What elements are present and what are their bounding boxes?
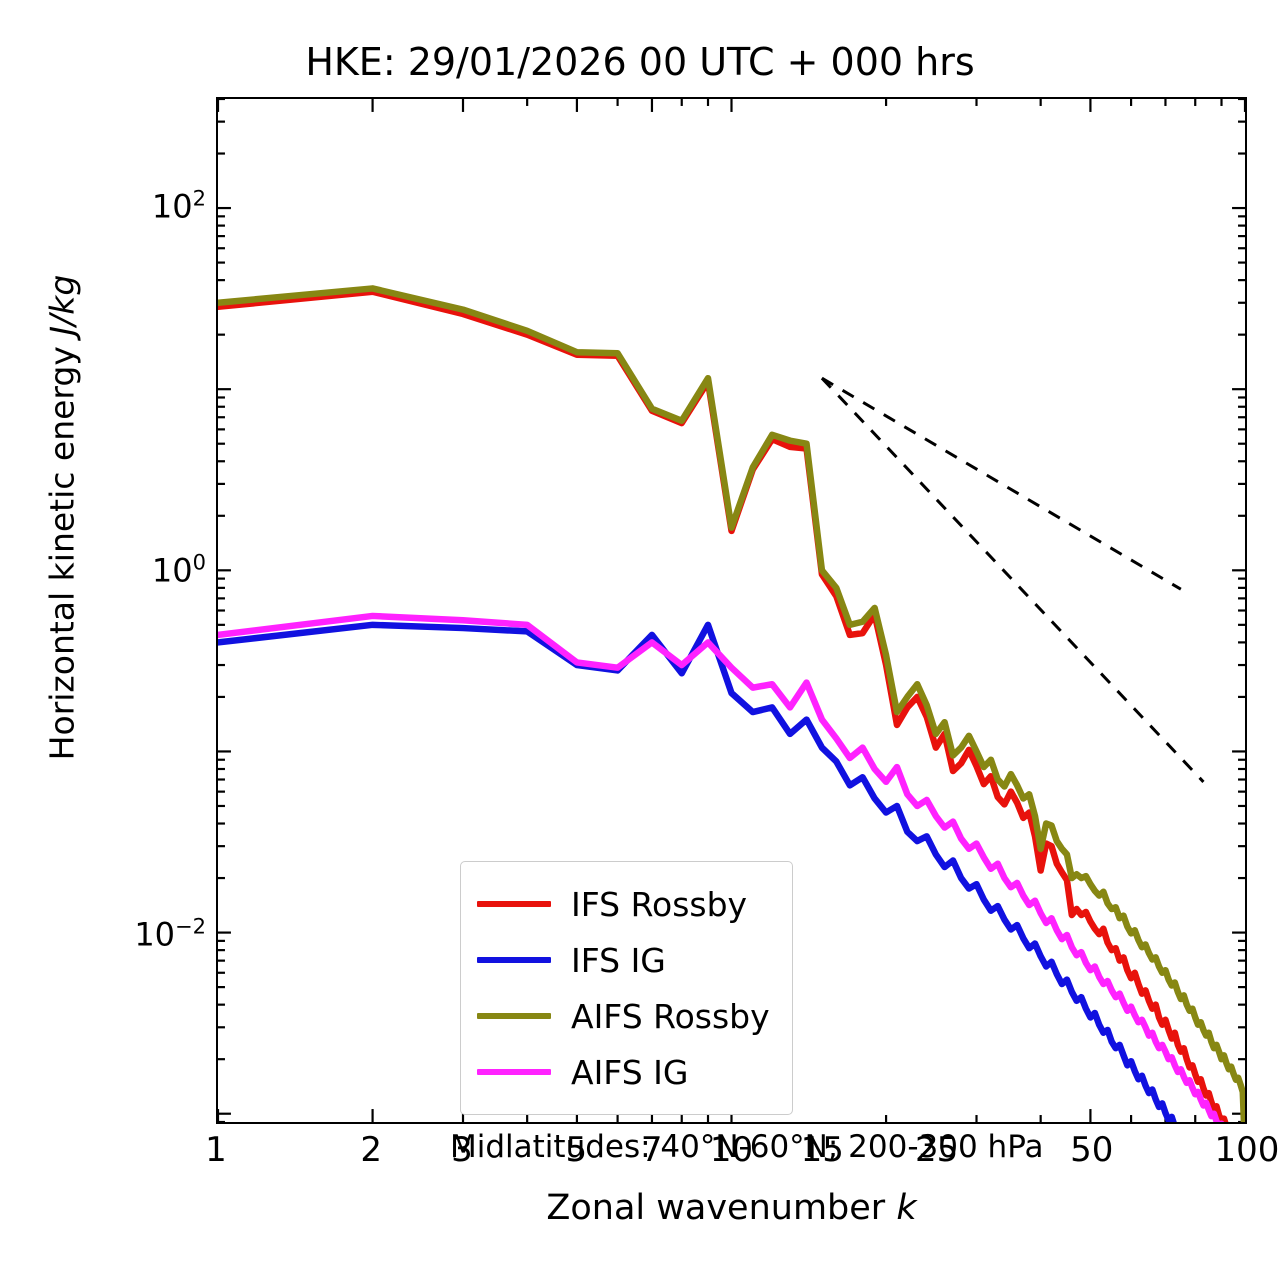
legend-label: AIFS IG bbox=[571, 1053, 688, 1092]
chart-title: HKE: 29/01/2026 00 UTC + 000 hrs bbox=[0, 40, 1280, 84]
y-axis-label-text: Horizontal kinetic energy bbox=[43, 336, 82, 761]
x-tick-label-1: 1 bbox=[205, 1130, 227, 1170]
x-tick-label-50: 50 bbox=[1070, 1130, 1113, 1170]
legend-item-ifs-rossby[interactable]: IFS Rossby bbox=[477, 876, 770, 932]
plot-area: IFS RossbyIFS IGAIFS RossbyAIFS IG Midla… bbox=[216, 97, 1247, 1124]
legend-label: IFS Rossby bbox=[571, 885, 747, 924]
legend-swatch-ifs-rossby bbox=[477, 901, 551, 907]
x-tick-label-2: 2 bbox=[360, 1130, 382, 1170]
legend[interactable]: IFS RossbyIFS IGAIFS RossbyAIFS IG bbox=[460, 861, 793, 1115]
region-annotation: Midlatitudes: 40°N-60°N; 200-300 hPa bbox=[450, 1129, 1044, 1165]
slope-reference-lines bbox=[822, 378, 1204, 782]
legend-item-ifs-ig[interactable]: IFS IG bbox=[477, 932, 770, 988]
legend-swatch-ifs-ig bbox=[477, 957, 551, 963]
legend-swatch-aifs-rossby bbox=[477, 1013, 551, 1019]
y-tick-label-10e−2: 10−2 bbox=[134, 915, 206, 954]
x-axis-label: Zonal wavenumber k bbox=[216, 1188, 1247, 1228]
legend-label: IFS IG bbox=[571, 941, 666, 980]
x-tick-label-100: 100 bbox=[1215, 1130, 1280, 1170]
x-axis-label-text: Zonal wavenumber bbox=[546, 1188, 896, 1228]
legend-item-aifs-rossby[interactable]: AIFS Rossby bbox=[477, 988, 770, 1044]
y-tick-label-10e0: 100 bbox=[152, 551, 206, 590]
legend-swatch-aifs-ig bbox=[477, 1069, 551, 1075]
y-axis-label: Horizontal kinetic energy J/kg bbox=[43, 168, 82, 868]
y-axis-label-units: J/kg bbox=[43, 275, 82, 336]
x-axis-label-symbol: k bbox=[896, 1188, 916, 1228]
legend-label: AIFS Rossby bbox=[571, 997, 770, 1036]
legend-item-aifs-ig[interactable]: AIFS IG bbox=[477, 1044, 770, 1100]
y-tick-label-10e2: 102 bbox=[152, 187, 206, 226]
figure-canvas: HKE: 29/01/2026 00 UTC + 000 hrs Horizon… bbox=[0, 0, 1280, 1288]
